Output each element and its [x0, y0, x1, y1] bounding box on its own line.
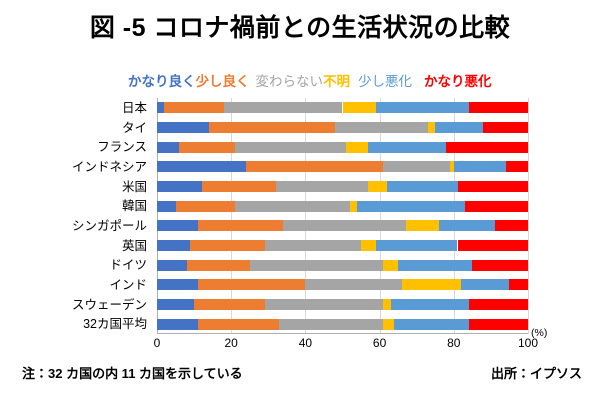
legend-item-2[interactable]: 変わらない — [256, 74, 324, 90]
bar-segment-1[interactable] — [202, 181, 276, 192]
bar-segment-3[interactable] — [361, 240, 376, 251]
bar-segment-5[interactable] — [469, 319, 528, 330]
bar-segment-0[interactable] — [157, 122, 209, 133]
bar-segment-4[interactable] — [439, 220, 495, 231]
category-axis-labels: 日本タイフランスインドネシア米国韓国シンガポール英国ドイツインドスウェーデン32… — [0, 98, 152, 334]
bar-segment-2[interactable] — [250, 260, 384, 271]
legend-item-4[interactable]: 少し悪化 — [358, 74, 412, 90]
category-label-2: フランス — [0, 140, 147, 154]
bar-segment-2[interactable] — [279, 319, 383, 330]
bar-segment-4[interactable] — [376, 102, 469, 113]
bar-segment-0[interactable] — [157, 161, 246, 172]
category-label-10: スウェーデン — [0, 298, 147, 312]
bar-segment-1[interactable] — [198, 319, 280, 330]
bar-segment-3[interactable] — [383, 319, 394, 330]
bar-segment-5[interactable] — [509, 279, 528, 290]
table-row — [157, 260, 528, 271]
x-tick-label-80: 80 — [447, 336, 460, 350]
bar-segment-0[interactable] — [157, 279, 198, 290]
bar-segment-0[interactable] — [157, 201, 176, 212]
bar-segment-1[interactable] — [198, 279, 306, 290]
bar-segment-0[interactable] — [157, 102, 164, 113]
bar-segment-3[interactable] — [346, 142, 368, 153]
bar-segment-0[interactable] — [157, 181, 202, 192]
table-row — [157, 102, 528, 113]
bar-segment-2[interactable] — [235, 201, 350, 212]
bar-segment-1[interactable] — [190, 240, 264, 251]
bar-segment-4[interactable] — [398, 260, 472, 271]
x-axis-unit-label: (%) — [531, 327, 547, 339]
bar-segment-4[interactable] — [387, 181, 457, 192]
bar-segment-4[interactable] — [454, 161, 506, 172]
table-row — [157, 279, 528, 290]
legend-item-0[interactable]: かなり良く — [128, 74, 196, 90]
bar-segment-0[interactable] — [157, 220, 198, 231]
bar-segment-3[interactable] — [406, 220, 439, 231]
bar-segment-1[interactable] — [179, 142, 235, 153]
bar-segment-0[interactable] — [157, 299, 194, 310]
table-row — [157, 299, 528, 310]
table-row — [157, 220, 528, 231]
category-label-4: 米国 — [0, 180, 147, 194]
table-row — [157, 201, 528, 212]
page-title: 図 -5 コロナ禍前との生活状況の比較 — [0, 12, 600, 44]
bar-segment-4[interactable] — [435, 122, 483, 133]
bar-segment-2[interactable] — [235, 142, 346, 153]
table-row — [157, 240, 528, 251]
bar-segment-4[interactable] — [357, 201, 465, 212]
bar-segment-3[interactable] — [343, 102, 376, 113]
bar-segment-0[interactable] — [157, 260, 187, 271]
bar-segment-0[interactable] — [157, 142, 179, 153]
legend-item-5[interactable]: かなり悪化 — [424, 74, 492, 90]
x-tick-label-20: 20 — [225, 336, 238, 350]
bar-segment-5[interactable] — [458, 181, 528, 192]
bar-segment-1[interactable] — [198, 220, 283, 231]
bar-segment-1[interactable] — [194, 299, 264, 310]
table-row — [157, 319, 528, 330]
gridline-100 — [528, 98, 529, 334]
bar-segment-4[interactable] — [461, 279, 509, 290]
bar-segment-1[interactable] — [176, 201, 235, 212]
bar-segment-3[interactable] — [383, 299, 390, 310]
bar-segment-2[interactable] — [224, 102, 343, 113]
bar-segment-5[interactable] — [472, 260, 528, 271]
bar-segment-3[interactable] — [368, 181, 387, 192]
category-label-11: 32カ国平均 — [0, 317, 147, 331]
category-label-3: インドネシア — [0, 160, 147, 174]
bar-segment-2[interactable] — [276, 181, 369, 192]
bar-segment-5[interactable] — [446, 142, 528, 153]
bar-segment-0[interactable] — [157, 240, 190, 251]
source-credit: 出所：イプソス — [491, 366, 582, 382]
chart-legend: かなり良く少し良く変わらない不明少し悪化かなり悪化 — [128, 73, 548, 91]
table-row — [157, 181, 528, 192]
bar-segment-4[interactable] — [394, 319, 468, 330]
bar-segment-3[interactable] — [428, 122, 435, 133]
footnote: 注：32 カ国の内 11 カ国を示している — [22, 366, 243, 382]
bar-segment-5[interactable] — [495, 220, 528, 231]
bar-segment-4[interactable] — [376, 240, 458, 251]
bar-segment-5[interactable] — [458, 240, 528, 251]
table-row — [157, 142, 528, 153]
bar-segment-1[interactable] — [164, 102, 223, 113]
plot-area — [157, 98, 528, 334]
bar-segment-5[interactable] — [506, 161, 528, 172]
bar-segment-4[interactable] — [391, 299, 469, 310]
category-label-7: 英国 — [0, 239, 147, 253]
category-label-6: シンガポール — [0, 219, 147, 233]
category-label-5: 韓国 — [0, 199, 147, 213]
bar-segment-1[interactable] — [209, 122, 335, 133]
bar-segment-1[interactable] — [246, 161, 383, 172]
bar-segment-3[interactable] — [350, 201, 357, 212]
x-tick-label-60: 60 — [373, 336, 386, 350]
x-tick-label-40: 40 — [299, 336, 312, 350]
bar-segment-2[interactable] — [265, 240, 361, 251]
bar-segment-5[interactable] — [465, 201, 528, 212]
table-row — [157, 122, 528, 133]
table-row — [157, 161, 528, 172]
bar-segment-2[interactable] — [265, 299, 384, 310]
bar-segment-4[interactable] — [368, 142, 446, 153]
stacked-bars — [157, 98, 528, 334]
legend-item-1[interactable]: 少し良く — [196, 74, 250, 90]
category-label-1: タイ — [0, 121, 147, 135]
bar-segment-2[interactable] — [283, 220, 405, 231]
bar-segment-5[interactable] — [469, 299, 528, 310]
category-label-9: インド — [0, 278, 147, 292]
bar-segment-5[interactable] — [483, 122, 528, 133]
bar-segment-1[interactable] — [187, 260, 250, 271]
category-label-0: 日本 — [0, 101, 147, 115]
bar-segment-5[interactable] — [469, 102, 528, 113]
bar-segment-2[interactable] — [383, 161, 450, 172]
figure-root: 図 -5 コロナ禍前との生活状況の比較 かなり良く少し良く変わらない不明少し悪化… — [0, 0, 600, 400]
x-axis-line — [157, 333, 528, 334]
bar-segment-0[interactable] — [157, 319, 198, 330]
bar-segment-2[interactable] — [305, 279, 401, 290]
bar-segment-3[interactable] — [383, 260, 398, 271]
legend-item-3[interactable]: 不明 — [323, 74, 350, 90]
bar-segment-2[interactable] — [335, 122, 428, 133]
bar-segment-3[interactable] — [402, 279, 461, 290]
x-tick-label-0: 0 — [154, 336, 161, 350]
x-axis-tick-labels: 020406080100 — [157, 336, 528, 352]
category-label-8: ドイツ — [0, 258, 147, 272]
